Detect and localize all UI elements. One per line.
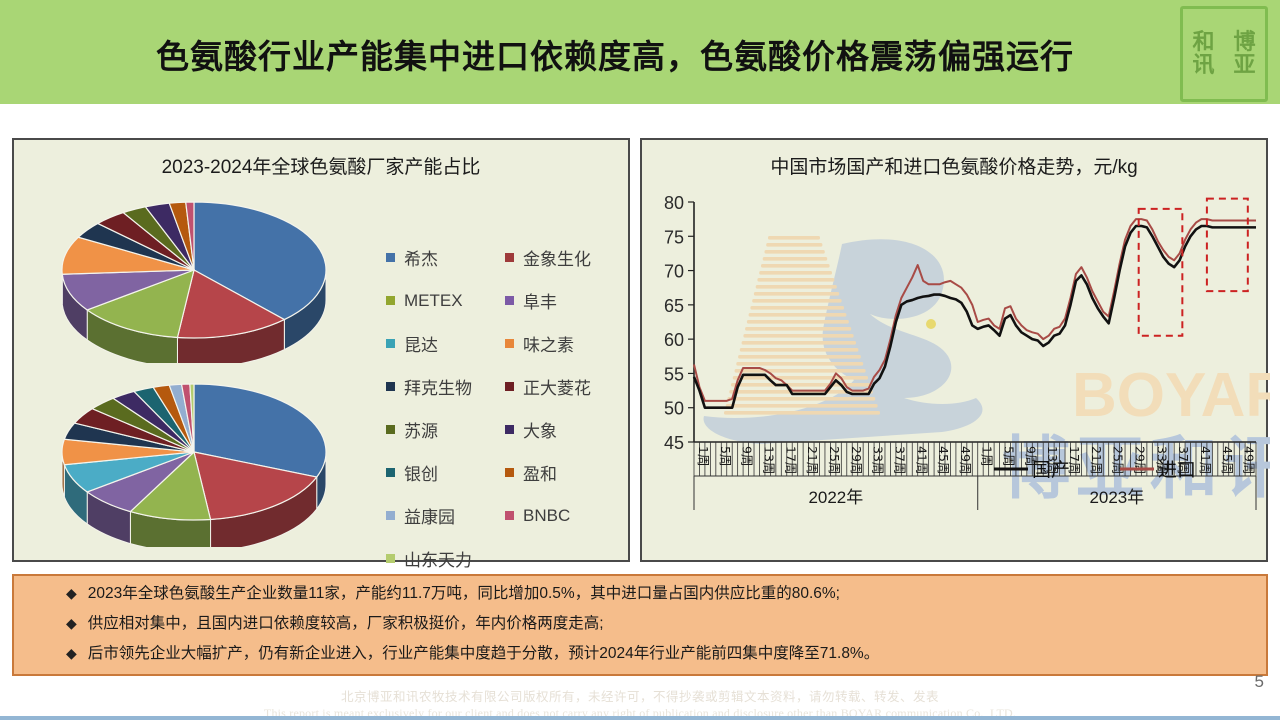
x-tick-label: 9周: [740, 446, 755, 466]
pie-legend-label: 拜克生物: [404, 374, 472, 399]
pie-legend-item: 苏源: [386, 408, 505, 451]
wing-stripe: [736, 362, 863, 366]
seal-char-4: 亚: [1224, 54, 1265, 77]
page-title: 色氨酸行业产能集中进口依赖度高，色氨酸价格震荡偏强运行: [60, 30, 1170, 78]
line-chart-area: BOYAR博亚和讯45505560657075801周5周9周13周17周21周…: [642, 184, 1270, 562]
wing-stripe: [761, 264, 830, 268]
legend-swatch-icon: [386, 253, 395, 262]
x-tick-label: 41周: [1198, 446, 1213, 474]
x-tick-label: 45周: [936, 446, 951, 474]
legend-swatch-icon: [505, 425, 514, 434]
wing-stripe: [768, 236, 820, 240]
pie-legend-item: 银创: [386, 451, 505, 494]
pie-legend-label: 正大菱花: [523, 374, 591, 399]
x-tick-label: 1周: [980, 446, 995, 466]
bullet-item: ◆ 供应相对集中，且国内进口依赖度较高，厂家积极挺价，年内价格两度走高;: [66, 614, 1266, 644]
pie-legend-label: BNBC: [523, 506, 570, 526]
header-band: 色氨酸行业产能集中进口依赖度高，色氨酸价格震荡偏强运行 和 博 讯 亚: [0, 0, 1280, 104]
legend-label-import: 进口: [1158, 459, 1196, 481]
pie-legend-label: METEX: [404, 291, 463, 311]
bullet-diamond-icon: ◆: [66, 614, 77, 633]
bullet-text: 2023年全球色氨酸生产企业数量11家，产能约11.7万吨，同比增加0.5%，其…: [88, 584, 840, 605]
pie-legend-item: 希杰: [386, 236, 505, 279]
wing-stripe: [752, 299, 841, 303]
x-tick-label: 5周: [718, 446, 733, 466]
wing-stripe: [750, 306, 844, 310]
wing-stripe: [757, 278, 834, 282]
legend-swatch-icon: [386, 425, 395, 434]
pie-chart-2024: [34, 362, 354, 547]
x-tick-label: 49周: [958, 446, 973, 474]
seal-char-3: 讯: [1183, 54, 1224, 77]
pie-legend-item: 金象生化: [505, 236, 624, 279]
legend-swatch-icon: [386, 339, 395, 348]
x-tick-label: 25周: [827, 446, 842, 474]
price-trend-svg: BOYAR博亚和讯45505560657075801周5周9周13周17周21周…: [642, 184, 1270, 562]
pie-legend-item: 大象: [505, 408, 624, 451]
watermark-boyar-latin: BOYAR: [1072, 361, 1270, 430]
pie-legend-label: 希杰: [404, 245, 438, 270]
pie-legend-label: 益康园: [404, 503, 455, 528]
boyar-watermark: [704, 236, 983, 444]
wing-stripe: [759, 271, 832, 275]
wing-stripe: [733, 376, 868, 380]
pie-legend-item: METEX: [386, 279, 505, 322]
seal-char-2: 博: [1224, 31, 1265, 54]
y-tick-label: 75: [664, 227, 684, 247]
pie-legend-label: 昆达: [404, 331, 438, 356]
pie-legend-item: 盈和: [505, 451, 624, 494]
legend-swatch-icon: [505, 511, 514, 520]
footer-rule: [0, 716, 1280, 720]
pie-legend-item: 阜丰: [505, 279, 624, 322]
x-tick-label: 1周: [696, 446, 711, 466]
bullet-text: 后市领先企业大幅扩产，仍有新企业进入，行业产能集中度趋于分散，预计2024年行业…: [88, 644, 879, 665]
wing-stripe: [745, 327, 851, 331]
seal-char-1: 和: [1183, 31, 1224, 54]
y-tick-label: 55: [664, 364, 684, 384]
pie-top-faces: [62, 384, 326, 520]
legend-swatch-icon: [386, 511, 395, 520]
pie-legend-item: 益康园: [386, 494, 505, 537]
y-tick-label: 60: [664, 330, 684, 350]
x-tick-label: 21周: [805, 446, 820, 474]
legend-swatch-icon: [505, 296, 514, 305]
pie-top-faces: [62, 202, 326, 338]
pie-legend-label: 大象: [523, 417, 557, 442]
pie-chart-2023-svg: [34, 188, 354, 363]
footer-copyright-cn: 北京博亚和讯农牧技术有限公司版权所有，未经许可，不得抄袭或剪辑文本资料，请勿转载…: [0, 686, 1280, 705]
legend-swatch-icon: [386, 554, 395, 563]
x-tick-label: 37周: [892, 446, 907, 474]
pie-chart-title: 2023-2024年全球色氨酸厂家产能占比: [14, 152, 628, 179]
pie-legend-label: 苏源: [404, 417, 438, 442]
pie-chart-2023: [34, 188, 354, 363]
wing-stripe: [735, 369, 866, 373]
x-tick-label: 5周: [1002, 446, 1017, 466]
pie-legend-item: 味之素: [505, 322, 624, 365]
wing-stripe: [766, 243, 822, 247]
pie-legend-item: 正大菱花: [505, 365, 624, 408]
x-tick-label: 29周: [849, 446, 864, 474]
bullet-diamond-icon: ◆: [66, 644, 77, 663]
x-tick-label: 17周: [783, 446, 798, 474]
legend-swatch-icon: [505, 468, 514, 477]
x-tick-label: 21周: [1089, 446, 1104, 474]
legend-swatch-icon: [505, 253, 514, 262]
pie-legend-item: BNBC: [505, 494, 624, 537]
legend-swatch-icon: [386, 296, 395, 305]
x-group-label: 2022年: [808, 488, 863, 507]
x-tick-label: 49周: [1242, 446, 1257, 474]
wing-stripe: [724, 411, 880, 415]
pie-chart-2024-svg: [34, 362, 354, 547]
wing-stripe: [747, 320, 849, 324]
wing-stripe: [756, 285, 837, 289]
pie-legend-item: 拜克生物: [386, 365, 505, 408]
wing-stripe: [731, 383, 870, 387]
pie-legend: 希杰金象生化METEX阜丰昆达味之素拜克生物正大菱花苏源大象银创盈和益康园BNB…: [386, 236, 624, 580]
highlight-box: [1207, 199, 1248, 292]
y-tick-label: 45: [664, 433, 684, 453]
pie-legend-label: 银创: [404, 460, 438, 485]
summary-bullets-box: ◆ 2023年全球色氨酸生产企业数量11家，产能约11.7万吨，同比增加0.5%…: [12, 574, 1268, 676]
wing-stripe: [765, 250, 825, 254]
pie-legend-label: 金象生化: [523, 245, 591, 270]
wing-stripe: [749, 313, 847, 317]
pie-legend-label: 味之素: [523, 331, 574, 356]
legend-swatch-icon: [386, 382, 395, 391]
legend-label-domestic: 国产: [1032, 459, 1070, 481]
wing-stripe: [728, 397, 876, 401]
bullet-item: ◆ 后市领先企业大幅扩产，仍有新企业进入，行业产能集中度趋于分散，预计2024年…: [66, 644, 1266, 674]
pie-legend-label: 山东天力: [404, 546, 472, 571]
x-tick-label: 33周: [871, 446, 886, 474]
bullet-text: 供应相对集中，且国内进口依赖度较高，厂家积极挺价，年内价格两度走高;: [88, 614, 604, 635]
y-tick-label: 65: [664, 296, 684, 316]
wing-stripe: [763, 257, 828, 261]
legend-swatch-icon: [505, 339, 514, 348]
dove-eye: [926, 319, 936, 329]
wing-stripe: [738, 355, 861, 359]
y-tick-label: 50: [664, 399, 684, 419]
boyar-seal-logo: 和 博 讯 亚: [1180, 6, 1268, 102]
legend-swatch-icon: [386, 468, 395, 477]
price-trend-panel: 中国市场国产和进口色氨酸价格走势，元/kg BOYAR博亚和讯455055606…: [640, 138, 1268, 562]
x-group-label: 2023年: [1089, 488, 1144, 507]
x-tick-label: 45周: [1220, 446, 1235, 474]
line-chart-title: 中国市场国产和进口色氨酸价格走势，元/kg: [642, 152, 1266, 179]
pie-chart-panel: 2023-2024年全球色氨酸厂家产能占比 希杰金象生化METEX阜丰昆达味之素…: [12, 138, 630, 562]
wing-stripe: [743, 334, 853, 338]
pie-legend-item: 昆达: [386, 322, 505, 365]
pie-legend-label: 阜丰: [523, 288, 557, 313]
x-tick-label: 13周: [762, 446, 777, 474]
legend-swatch-icon: [505, 382, 514, 391]
wing-stripe: [742, 341, 856, 345]
bullet-diamond-icon: ◆: [66, 584, 77, 603]
wing-stripe: [754, 292, 839, 296]
x-tick-label: 41周: [914, 446, 929, 474]
wing-stripe: [726, 404, 878, 408]
bullet-item: ◆ 2023年全球色氨酸生产企业数量11家，产能约11.7万吨，同比增加0.5%…: [66, 584, 1266, 614]
wing-stripe: [740, 348, 859, 352]
y-tick-label: 70: [664, 262, 684, 282]
y-tick-label: 80: [664, 193, 684, 213]
pie-legend-label: 盈和: [523, 460, 557, 485]
